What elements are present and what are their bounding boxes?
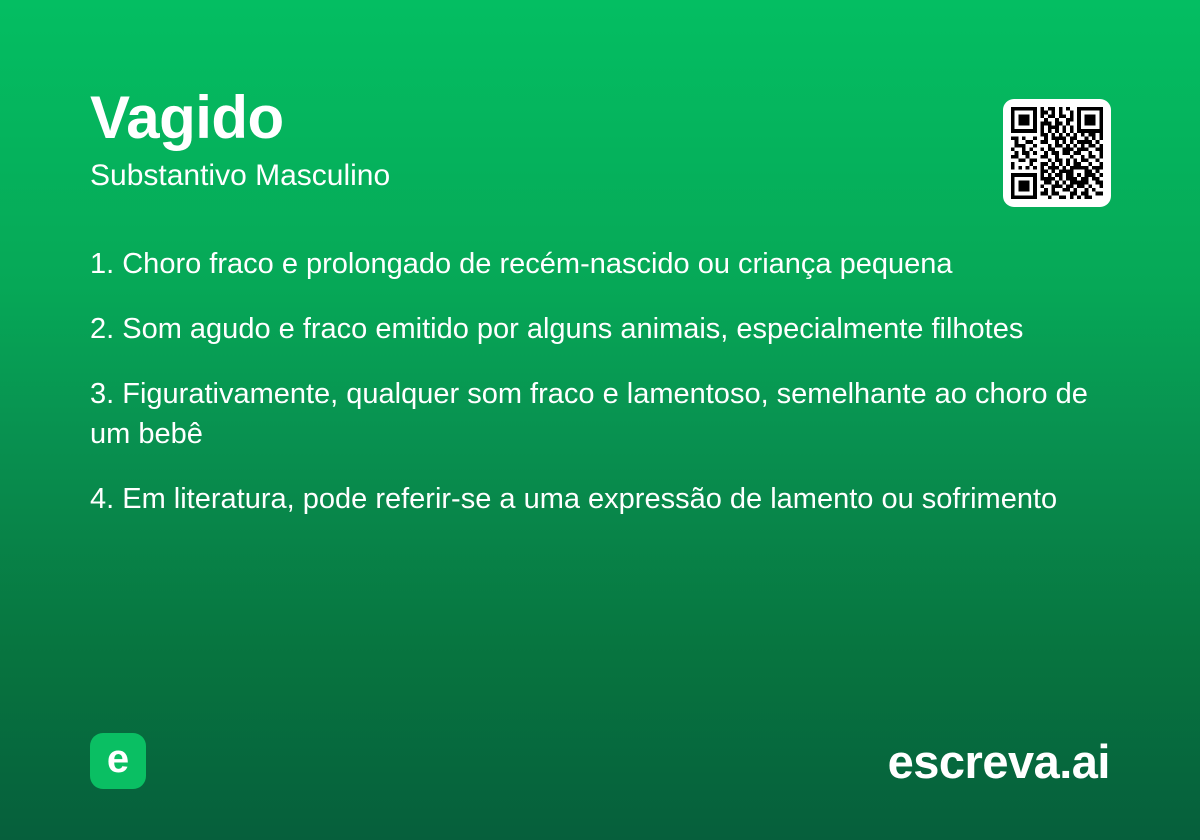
qr-code-icon	[1011, 107, 1103, 199]
page-title: Vagido	[90, 86, 1110, 149]
brand-wordmark: escreva.ai	[888, 738, 1110, 785]
definition-item: 1. Choro fraco e prolongado de recém-nas…	[90, 244, 1110, 284]
part-of-speech-label: Substantivo Masculino	[90, 159, 1110, 194]
dictionary-card: Vagido Substantivo Masculino	[0, 0, 1200, 840]
logo-letter: e	[107, 739, 129, 779]
definition-item: 2. Som agudo e fraco emitido por alguns …	[90, 309, 1110, 349]
card-header: Vagido Substantivo Masculino	[90, 86, 1110, 194]
card-footer: e escreva.ai	[90, 733, 1110, 789]
escreva-logo-icon[interactable]: e	[90, 733, 146, 789]
qr-code[interactable]	[1003, 99, 1111, 207]
definition-item: 4. Em literatura, pode referir-se a uma …	[90, 479, 1110, 519]
definition-list: 1. Choro fraco e prolongado de recém-nas…	[90, 244, 1110, 519]
definition-item: 3. Figurativamente, qualquer som fraco e…	[90, 374, 1110, 454]
